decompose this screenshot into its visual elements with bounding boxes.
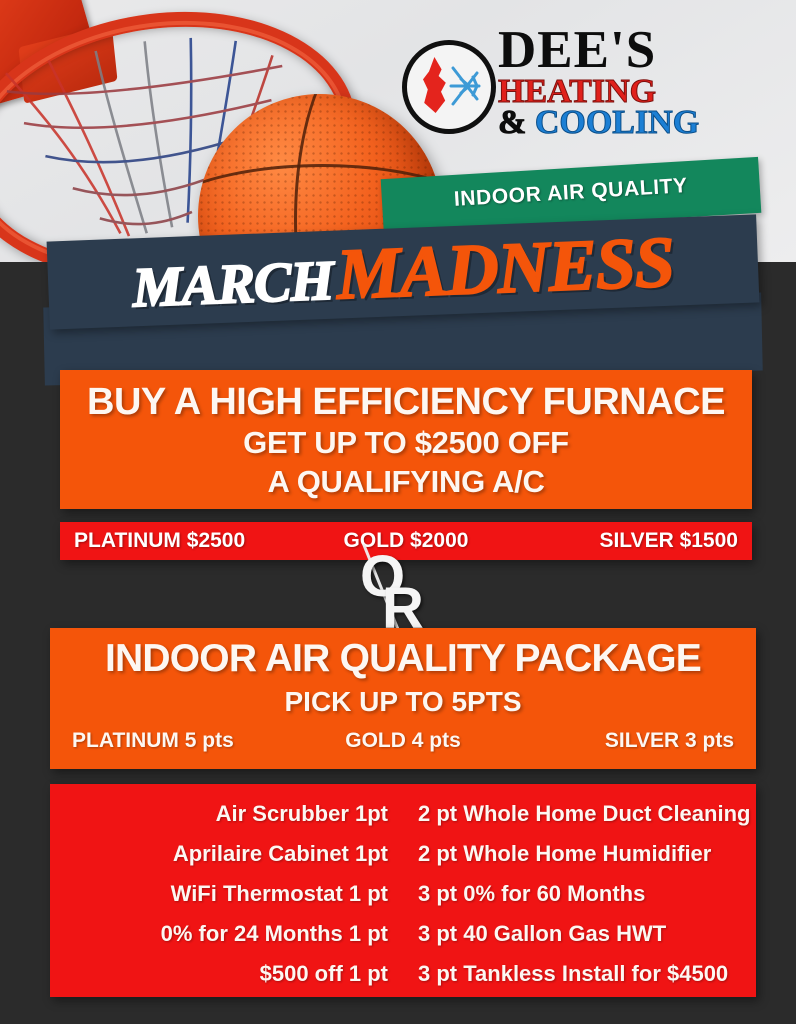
iaq-options-grid: Air Scrubber 1pt Aprilaire Cabinet 1pt W… (50, 784, 756, 997)
iaq-heading: INDOOR AIR QUALITY PACKAGE (50, 638, 756, 681)
list-item: 2 pt Whole Home Humidifier (418, 834, 756, 874)
list-item: 3 pt 40 Gallon Gas HWT (418, 914, 756, 954)
furnace-tier-platinum: PLATINUM $2500 (60, 529, 295, 553)
logo-line-dees: DEE'S (498, 24, 734, 77)
ribbon-label: INDOOR AIR QUALITY (381, 170, 760, 216)
company-logo: DEE'S HEATING & COOLING (402, 24, 732, 144)
furnace-offer-line-1: BUY A HIGH EFFICIENCY FURNACE (60, 382, 752, 424)
logo-wordmark: DEE'S HEATING & COOLING (498, 24, 734, 140)
iaq-package-block: INDOOR AIR QUALITY PACKAGE PICK UP TO 5P… (50, 628, 756, 769)
headline-word-march: MARCH (131, 250, 334, 320)
list-item: Air Scrubber 1pt (50, 794, 388, 834)
furnace-offer-line-2: GET UP TO $2500 OFF (60, 424, 752, 463)
flame-snowflake-icon (402, 40, 496, 134)
list-item: 3 pt Tankless Install for $4500 (418, 954, 756, 994)
logo-cooling-word: COOLING (535, 104, 699, 141)
furnace-offer-block: BUY A HIGH EFFICIENCY FURNACE GET UP TO … (60, 370, 752, 509)
headline-word-madness: MADNESS (335, 222, 675, 315)
march-madness-flyer: DEE'S HEATING & COOLING INDOOR AIR QUALI… (0, 0, 796, 1024)
iaq-tier-strip: PLATINUM 5 pts GOLD 4 pts SILVER 3 pts (50, 723, 756, 763)
furnace-offer-line-3: A QUALIFYING A/C (60, 463, 752, 502)
or-divider: O R (352, 548, 442, 632)
logo-line-cooling: & COOLING (498, 106, 734, 141)
furnace-tier-silver: SILVER $1500 (517, 529, 752, 553)
list-item: $500 off 1 pt (50, 954, 388, 994)
iaq-subheading: PICK UP TO 5PTS (50, 681, 756, 723)
list-item: Aprilaire Cabinet 1pt (50, 834, 388, 874)
iaq-options-column-right: 2 pt Whole Home Duct Cleaning 2 pt Whole… (402, 794, 756, 997)
iaq-tier-platinum: PLATINUM 5 pts (50, 729, 293, 753)
iaq-tier-gold: GOLD 4 pts (293, 729, 514, 753)
list-item: WiFi Thermostat 1 pt (50, 874, 388, 914)
iaq-options-column-left: Air Scrubber 1pt Aprilaire Cabinet 1pt W… (50, 794, 402, 997)
list-item: 3 pt 0% for 60 Months (418, 874, 756, 914)
iaq-tier-silver: SILVER 3 pts (513, 729, 756, 753)
list-item: 0% for 24 Months 1 pt (50, 914, 388, 954)
list-item: 2 pt Whole Home Duct Cleaning (418, 794, 756, 834)
logo-ampersand: & (498, 104, 526, 141)
